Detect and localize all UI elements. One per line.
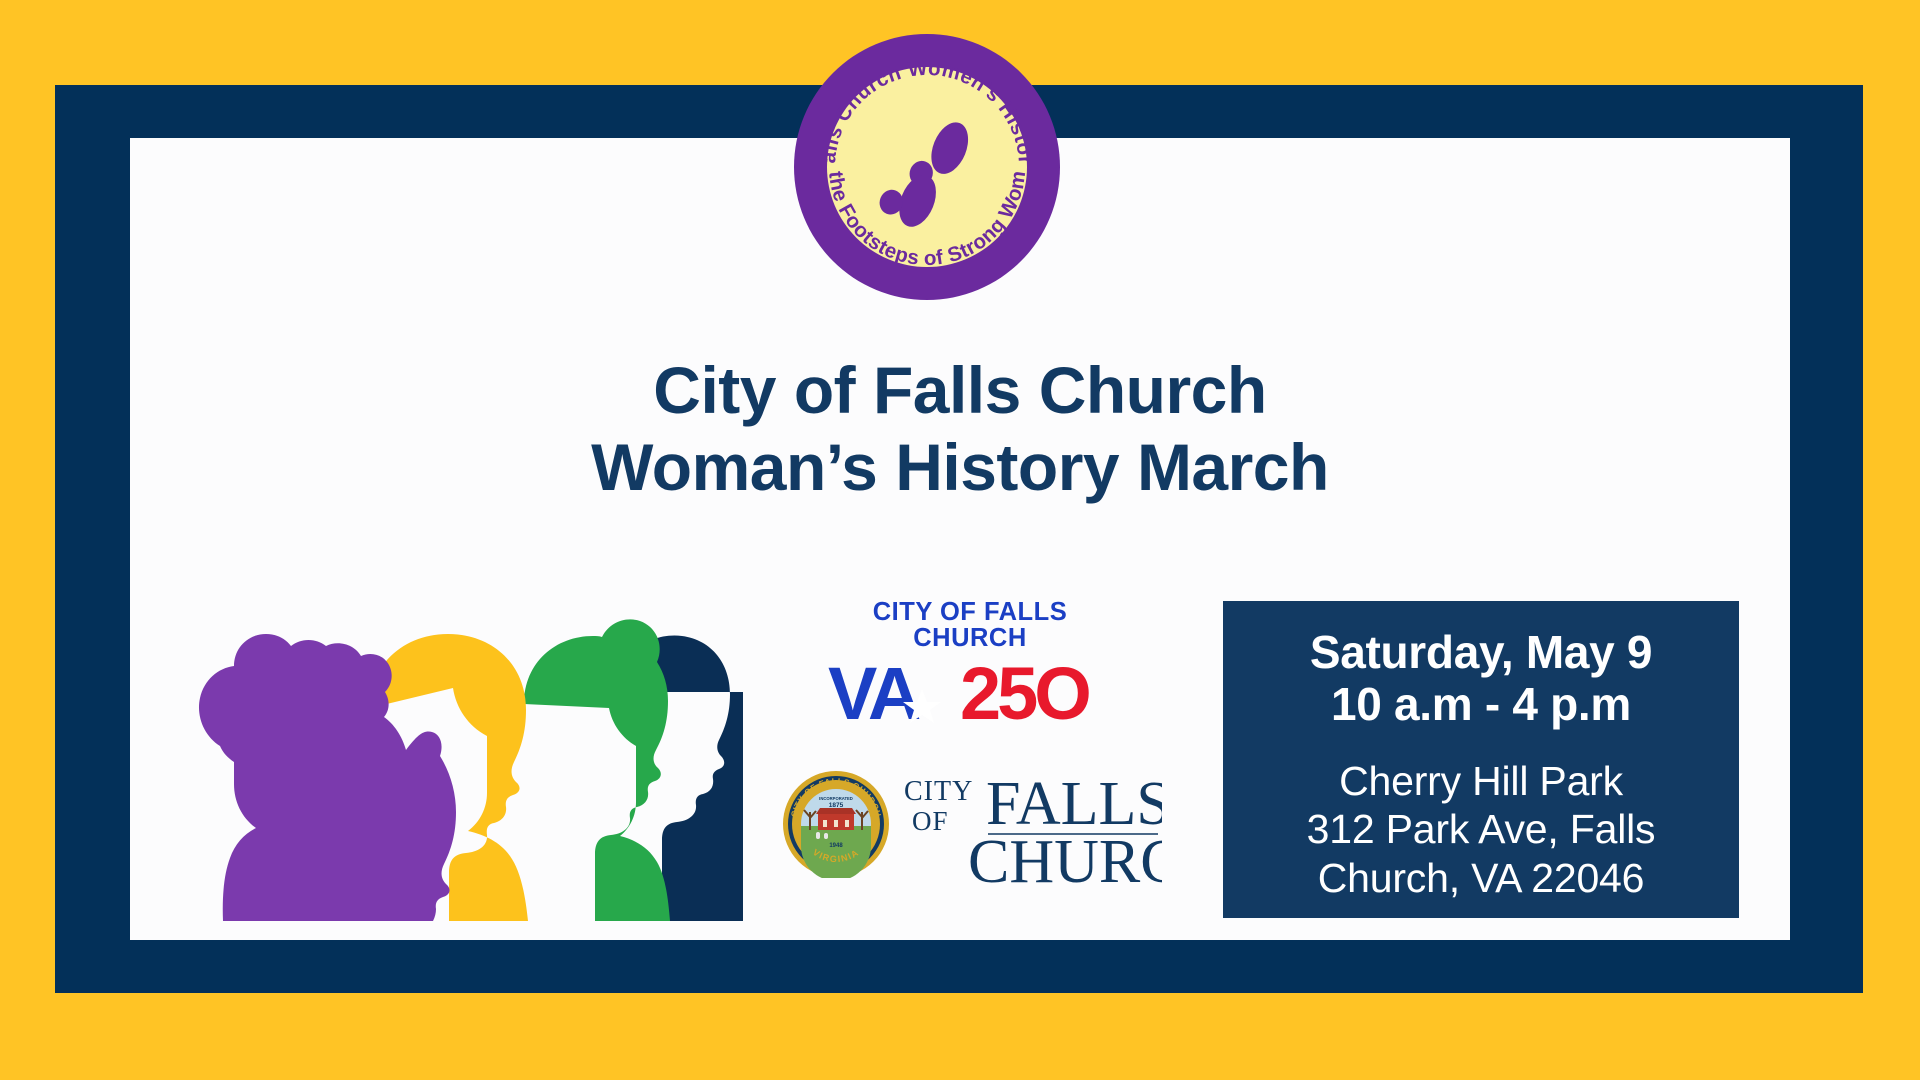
event-datetime: Saturday, May 9 10 a.m - 4 p.m [1241,627,1721,731]
va250-logo: CITY OF FALLS CHURCH VA 25O [820,600,1120,710]
womens-history-badge: Falls Church Women's History In the Foot… [794,34,1060,300]
footprints-icon [875,106,976,236]
event-date: Saturday, May 9 [1241,627,1721,679]
seal-year-1875: 1875 [829,802,844,809]
event-venue: Cherry Hill Park [1241,757,1721,805]
women-silhouettes-illustration [168,596,748,921]
seal-incorporated-text: INCORPORATED [819,796,853,801]
headline-line-2: Woman’s History March [130,429,1790,506]
va250-250-text: 25O [960,653,1089,727]
seal-year-1948: 1948 [829,843,843,849]
event-details-box: Saturday, May 9 10 a.m - 4 p.m Cherry Hi… [1223,601,1739,918]
event-address-line-1: 312 Park Ave, Falls [1241,805,1721,853]
page-title: City of Falls Church Woman’s History Mar… [130,352,1790,505]
city-wordmark: CITY OF FALLS CHURCH [902,762,1162,887]
woman-silhouette-green [524,619,670,921]
event-flyer: Falls Church Women's History In the Foot… [0,0,1920,1080]
event-address-line-2: Church, VA 22046 [1241,854,1721,902]
wordmark-church: CHURCH [968,828,1162,887]
wordmark-of: OF [912,806,949,836]
va250-top-line: CITY OF FALLS CHURCH [820,600,1120,651]
badge-arc-top-text: Falls Church Women's History [794,34,1037,165]
city-seal: INCORPORATED 1875 1948 CITY OF FALLS CHU… [782,770,890,878]
city-of-falls-church-logo: INCORPORATED 1875 1948 CITY OF FALLS CHU… [782,762,1162,887]
event-time: 10 a.m - 4 p.m [1241,679,1721,731]
wordmark-city: CITY [904,776,973,807]
headline-line-1: City of Falls Church [130,352,1790,429]
va250-mark: VA 25O [820,653,1120,727]
va250-va-text: VA [828,653,920,727]
event-location: Cherry Hill Park 312 Park Ave, Falls Chu… [1241,757,1721,902]
badge-artwork: Falls Church Women's History In the Foot… [794,34,1060,300]
